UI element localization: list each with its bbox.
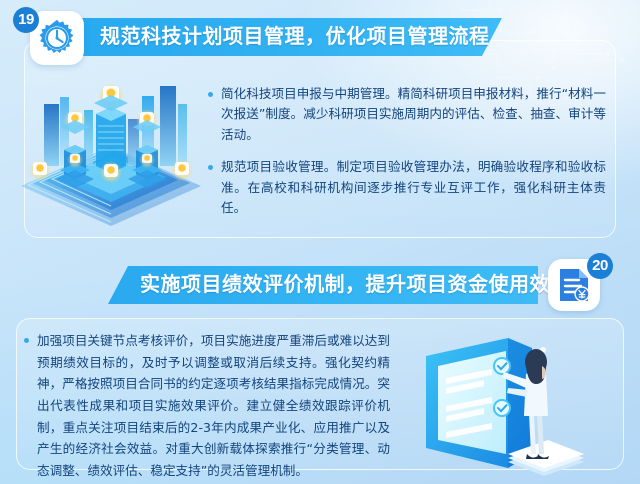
- section-1-bullet-1: 简化科技项目申报与中期管理。精简科研项目申报材料，推行“材料一次报送”制度。减少…: [206, 84, 606, 145]
- person-checklist-screen-illustration: [408, 336, 628, 480]
- section-1-title: 规范科技计划项目管理，优化项目管理流程: [100, 18, 490, 56]
- section-1-bullet-2: 规范项目验收管理。制定项目验收管理办法，明确验收程序和验收标准。在高校和科研机构…: [206, 157, 606, 218]
- gear-clock-icon: [37, 18, 77, 58]
- section-2-title: 实施项目绩效评价机制，提升项目资金使用效率: [140, 266, 571, 304]
- section-1-bullet-list: 简化科技项目申报与中期管理。精简科研项目申报材料，推行“材料一次报送”制度。减少…: [206, 84, 606, 230]
- section-2-number-badge: 20: [587, 253, 613, 279]
- section-2-bullet-1: 加强项目关键节点考核评价，项目实施进度严重滞后或难以达到预期绩效目标的，及时予以…: [22, 330, 390, 482]
- section-1-banner: 规范科技计划项目管理，优化项目管理流程: [78, 18, 502, 56]
- document-yuan-icon: [557, 267, 591, 303]
- isometric-smart-city-illustration: [16, 74, 206, 236]
- infographic-page: 规范科技计划项目管理，优化项目管理流程 19: [0, 0, 640, 484]
- section-2-banner: 实施项目绩效评价机制，提升项目资金使用效率: [108, 266, 538, 304]
- section-2-bullet-list: 加强项目关键节点考核评价，项目实施进度严重滞后或难以达到预期绩效目标的，及时予以…: [22, 330, 390, 482]
- section-1-number-badge: 19: [13, 7, 39, 33]
